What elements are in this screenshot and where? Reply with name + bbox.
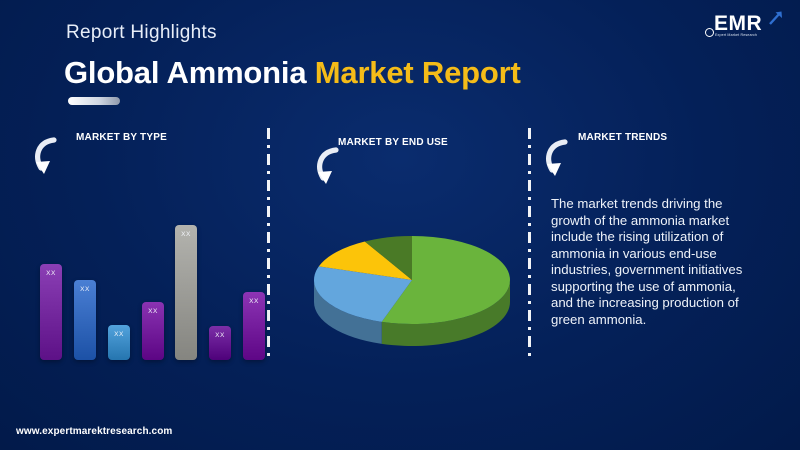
growth-arrow-icon (767, 9, 785, 27)
page-title: Global Ammonia Market Report (64, 55, 521, 91)
bar-chart-bar[interactable]: XX (175, 225, 197, 360)
section-divider-left (267, 128, 270, 360)
bar-chart-bar[interactable]: XX (209, 326, 231, 360)
curved-arrow-icon (32, 136, 66, 180)
bar-chart-market-by-type: XXXXXXXXXXXXXX (40, 225, 265, 360)
panel-heading-market-by-type: MARKET BY TYPE (76, 132, 167, 143)
bar-chart-bar[interactable]: XX (243, 292, 265, 360)
bar-value-label: XX (40, 270, 62, 277)
curved-arrow-icon (543, 138, 577, 182)
title-underline-bar (68, 97, 120, 105)
infographic-slide: Report Highlights Global Ammonia Market … (0, 0, 800, 450)
section-divider-right (528, 128, 531, 360)
bar-chart-bar[interactable]: XX (142, 302, 164, 360)
pie-chart-market-by-end-use (312, 228, 512, 358)
page-kicker: Report Highlights (66, 22, 217, 44)
logo-tagline: Expert Market Research (715, 33, 757, 37)
bar-value-label: XX (209, 332, 231, 339)
bar-value-label: XX (175, 231, 197, 238)
emr-logo[interactable]: EMR Expert Market Research (700, 10, 786, 48)
bar-value-label: XX (108, 331, 130, 338)
target-ring-icon (705, 28, 714, 37)
pie-svg (312, 228, 512, 358)
footer-website-url[interactable]: www.expertmarektresearch.com (16, 426, 172, 437)
bar-value-label: XX (74, 286, 96, 293)
panel-heading-market-trends: MARKET TRENDS (578, 132, 667, 143)
page-title-accent: Market Report (315, 55, 521, 90)
bar-chart-bar[interactable]: XX (108, 325, 130, 360)
market-trends-paragraph: The market trends driving the growth of … (551, 196, 756, 328)
bar-chart-bar[interactable]: XX (74, 280, 96, 360)
panel-heading-market-by-end-use: MARKET BY END USE (338, 137, 448, 148)
bar-value-label: XX (142, 308, 164, 315)
bar-value-label: XX (243, 298, 265, 305)
curved-arrow-icon (314, 146, 348, 190)
page-title-primary: Global Ammonia (64, 55, 306, 90)
bar-chart-bar[interactable]: XX (40, 264, 62, 360)
